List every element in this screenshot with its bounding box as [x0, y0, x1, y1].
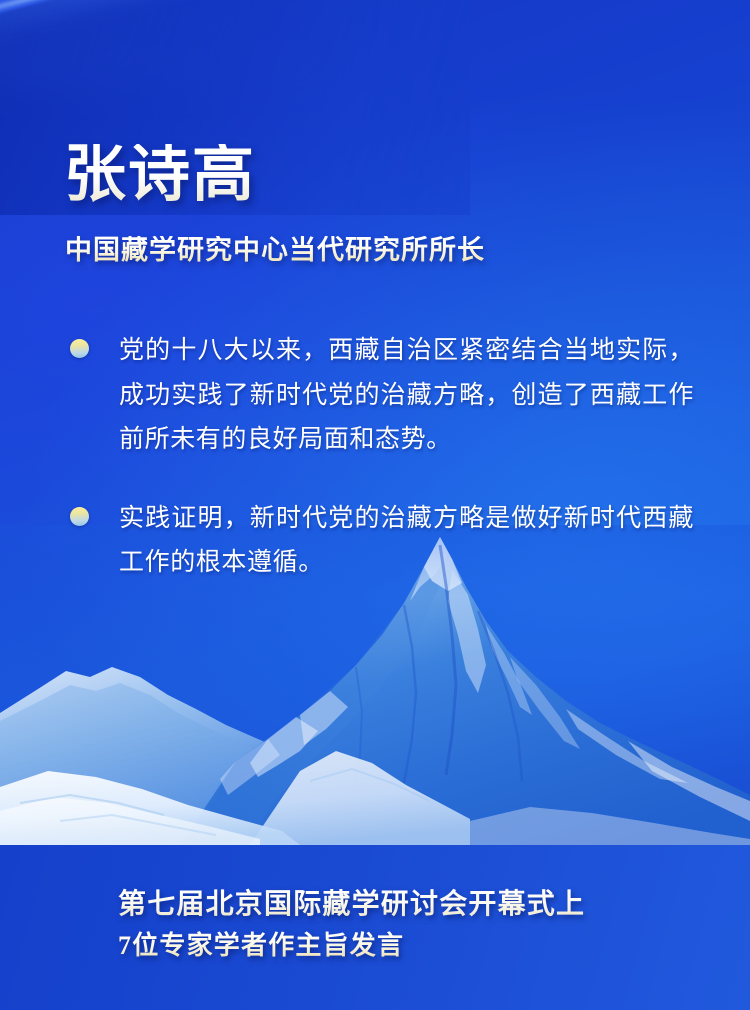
swoosh-soft-glow [0, 0, 470, 66]
bullet-text: 实践证明，新时代党的治藏方略是做好新时代西藏工作的根本遵循。 [119, 496, 694, 585]
speaker-name: 张诗高 [64, 144, 256, 206]
footer-subline: 7位专家学者作主旨发言 [118, 930, 585, 961]
bullet-text: 党的十八大以来，西藏自治区紧密结合当地实际，成功实践了新时代党的治藏方略，创造了… [119, 328, 694, 462]
bullet-dot-icon [70, 507, 89, 526]
bullet-list: 党的十八大以来，西藏自治区紧密结合当地实际，成功实践了新时代党的治藏方略，创造了… [64, 328, 694, 619]
footer-text-group: 第七届北京国际藏学研讨会开幕式上 7位专家学者作主旨发言 [118, 887, 585, 961]
list-item: 实践证明，新时代党的治藏方略是做好新时代西藏工作的根本遵循。 [64, 496, 694, 585]
bullet-dot-icon [70, 339, 89, 358]
swoosh-highlight-line [0, 0, 470, 45]
footer-band: 第七届北京国际藏学研讨会开幕式上 7位专家学者作主旨发言 [0, 845, 750, 1010]
list-item: 党的十八大以来，西藏自治区紧密结合当地实际，成功实践了新时代党的治藏方略，创造了… [64, 328, 694, 462]
poster-root: 张诗高 中国藏学研究中心当代研究所所长 党的十八大以来，西藏自治区紧密结合当地实… [0, 0, 750, 1010]
swoosh-bright-glow [0, 0, 360, 90]
footer-headline: 第七届北京国际藏学研讨会开幕式上 [118, 887, 585, 921]
speaker-title: 中国藏学研究中心当代研究所所长 [65, 236, 485, 266]
